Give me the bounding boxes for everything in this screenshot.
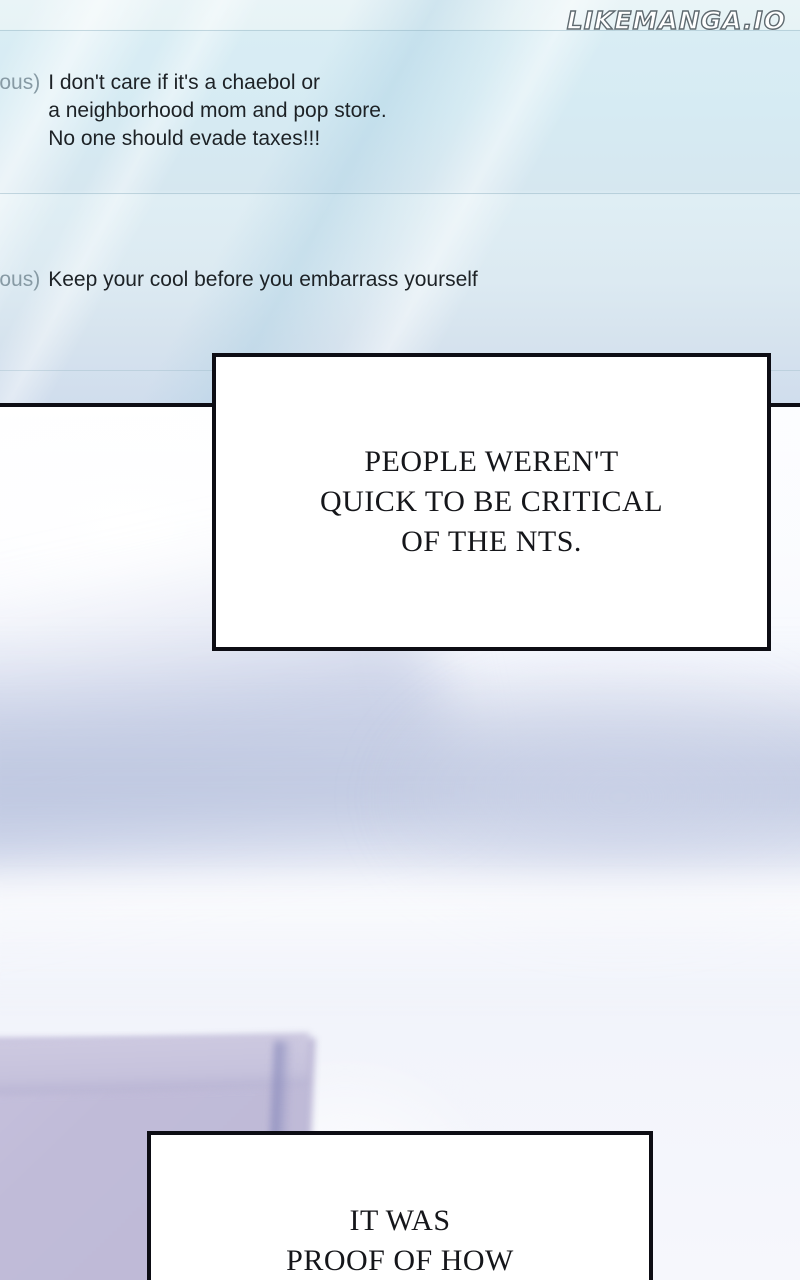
light-streak: [0, 0, 362, 407]
caption-text: IT WAS PROOF OF HOW: [286, 1201, 514, 1280]
light-streak: [47, 0, 602, 407]
comment-divider: [0, 30, 800, 31]
comment-row: onymous) I don't care if it's a chaebol …: [0, 69, 387, 153]
light-streak: [0, 0, 256, 407]
background-band-light: [0, 877, 800, 997]
comment-author: onymous): [0, 266, 40, 294]
comment-author: onymous): [0, 69, 40, 97]
caption-text: PEOPLE WEREN'T QUICK TO BE CRITICAL OF T…: [320, 442, 663, 562]
caption-box-secondary: IT WAS PROOF OF HOW: [147, 1131, 653, 1280]
comment-divider: [0, 193, 800, 194]
comment-text: I don't care if it's a chaebol or a neig…: [48, 69, 387, 153]
comment-overlay-panel: onymous) I don't care if it's a chaebol …: [0, 0, 800, 407]
caption-box-primary: PEOPLE WEREN'T QUICK TO BE CRITICAL OF T…: [212, 353, 771, 651]
light-streak: [217, 0, 719, 407]
comment-text: Keep your cool before you embarrass your…: [48, 266, 478, 294]
webtoon-page: onymous) I don't care if it's a chaebol …: [0, 0, 800, 1280]
comment-row: onymous) Keep your cool before you embar…: [0, 266, 478, 294]
